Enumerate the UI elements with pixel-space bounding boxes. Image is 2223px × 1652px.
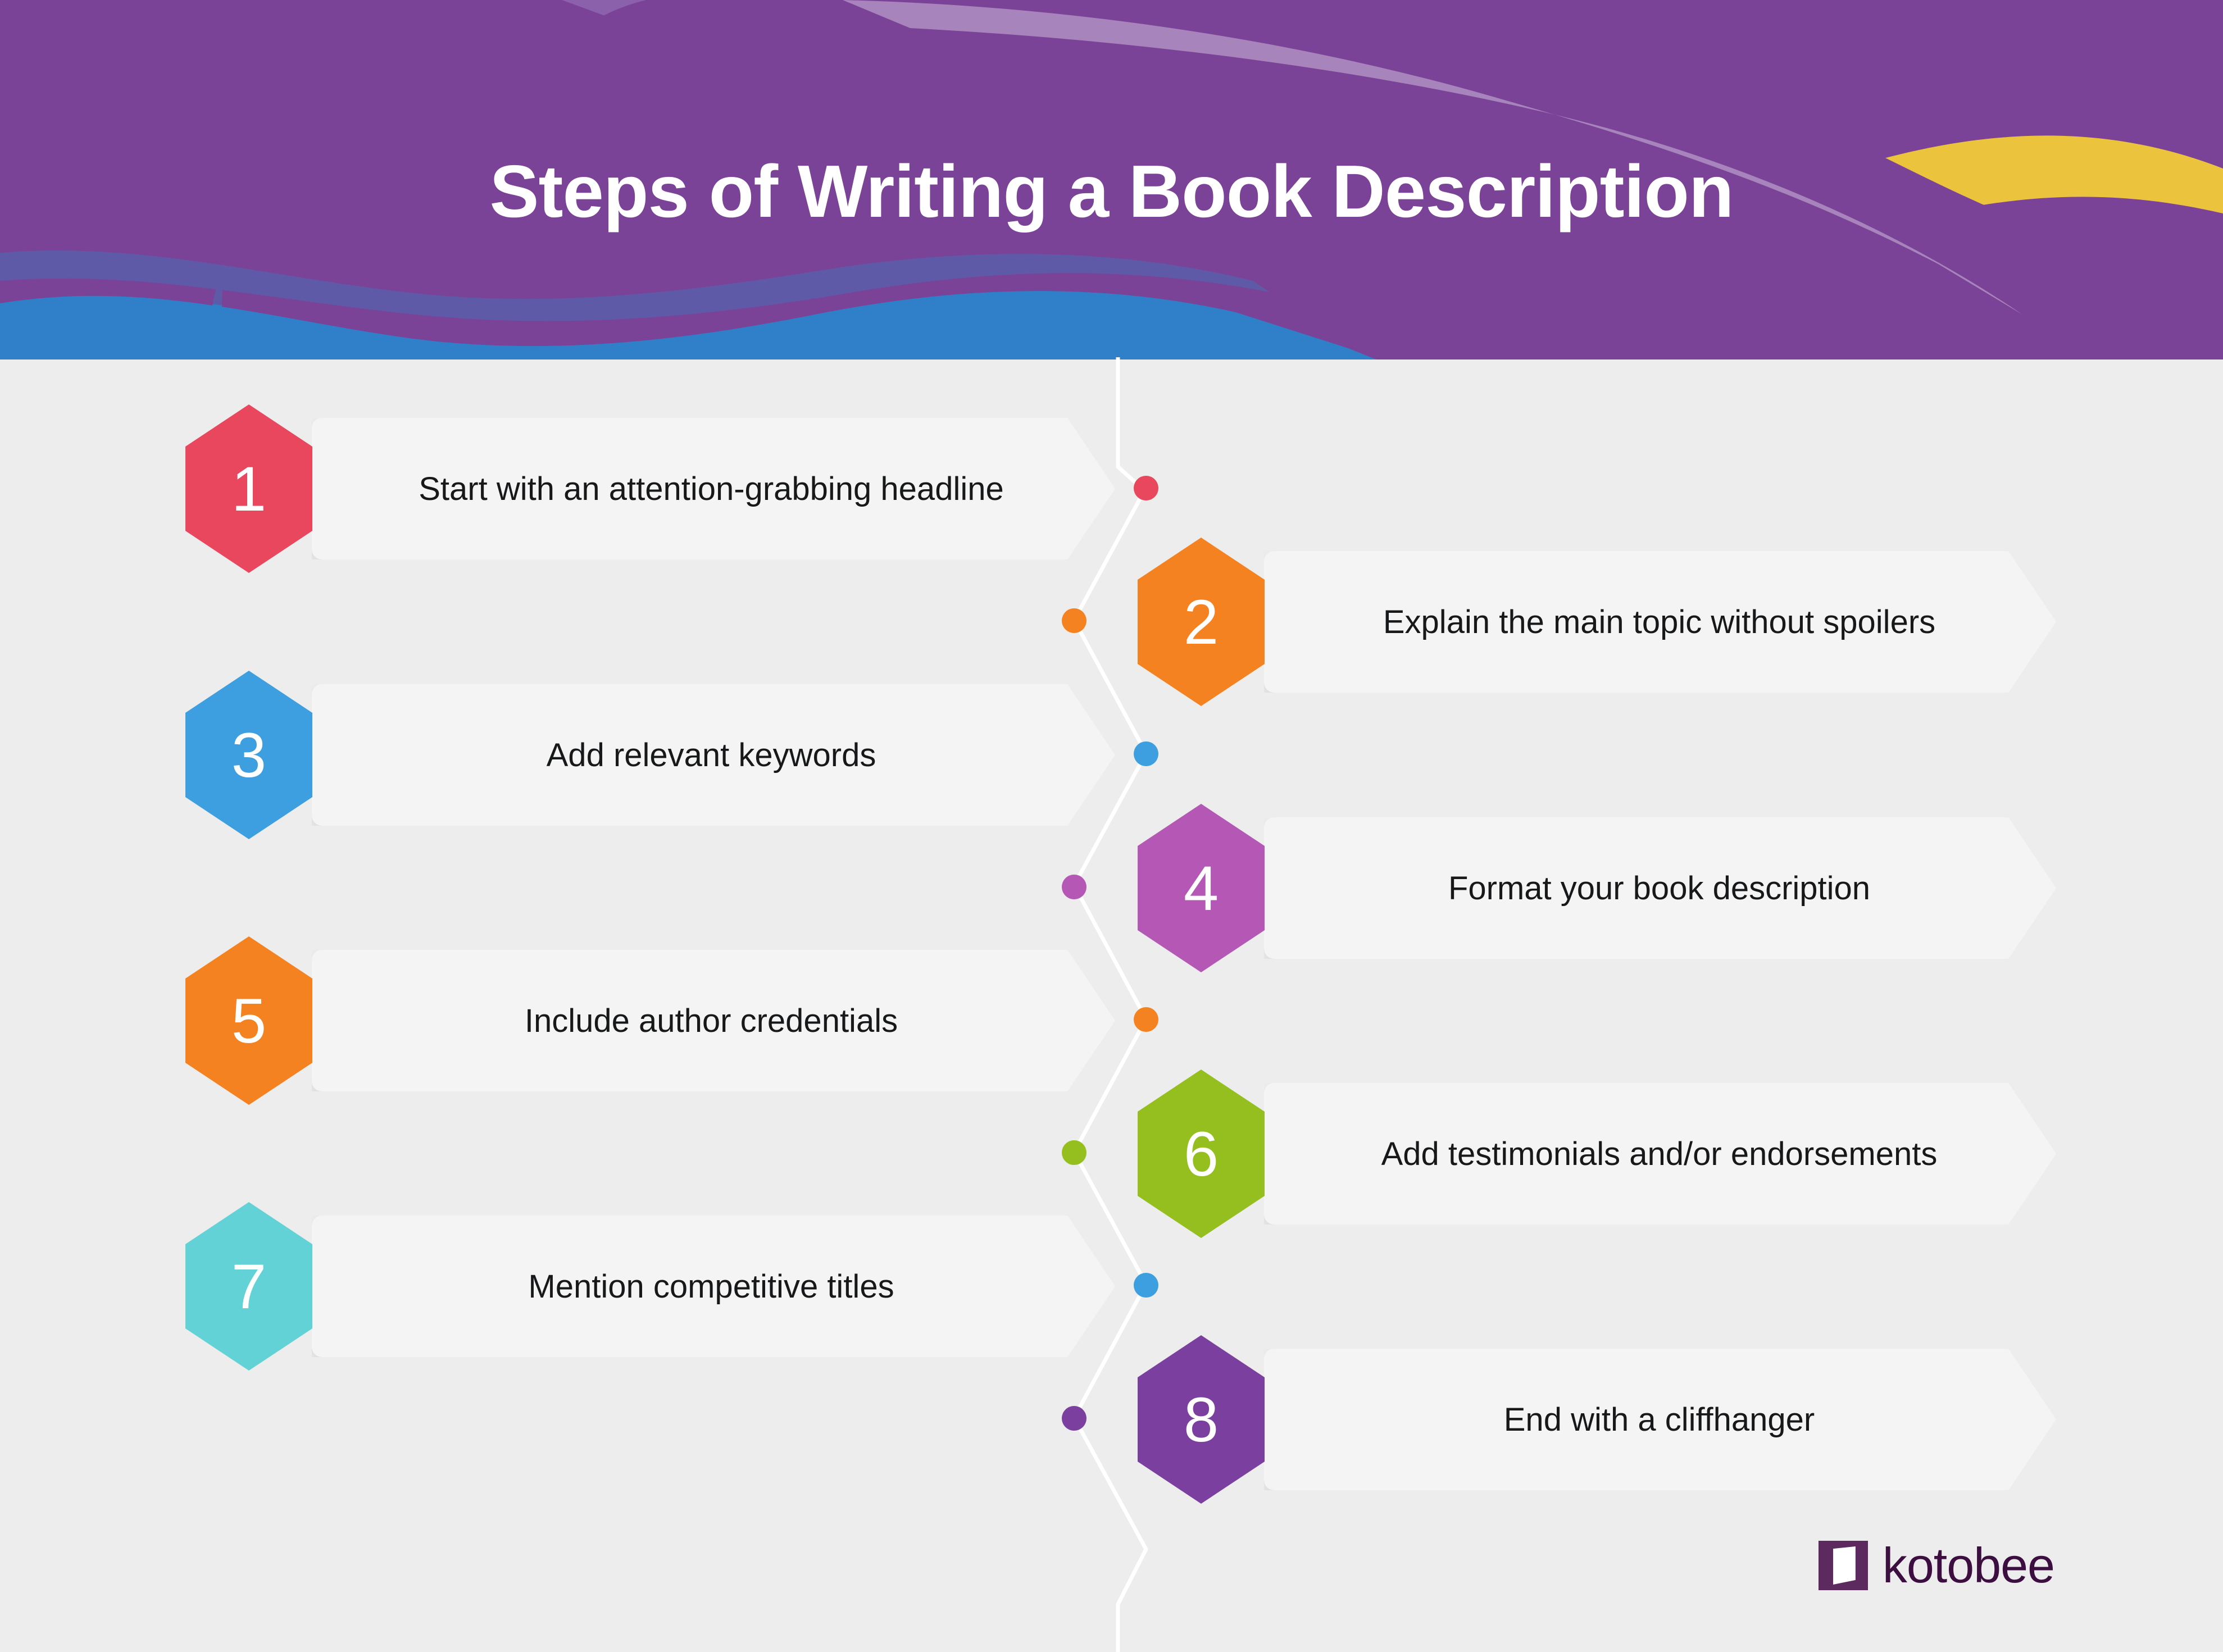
step-label-2: Explain the main topic without spoilers: [1265, 551, 2054, 693]
step-number-7: 7: [231, 1250, 266, 1323]
step-number-2: 2: [1184, 586, 1219, 658]
kotobee-logo[interactable]: kotobee: [1819, 1541, 2054, 1590]
step-number-5: 5: [231, 985, 266, 1057]
step-number-8: 8: [1184, 1384, 1219, 1456]
step-label-5: Include author credentials: [312, 950, 1110, 1091]
connector-dot-8: [1062, 1406, 1087, 1431]
connector-dot-1: [1134, 476, 1158, 500]
step-hexagon-2: 2: [1138, 538, 1265, 706]
step-number-1: 1: [231, 453, 266, 525]
step-row-6[interactable]: 6 Add testimonials and/or endorsements: [1138, 1070, 2056, 1238]
step-hexagon-6: 6: [1138, 1070, 1265, 1238]
kotobee-wordmark: kotobee: [1883, 1541, 2054, 1590]
step-hexagon-3: 3: [185, 671, 312, 839]
kotobee-book-icon: [1819, 1541, 1868, 1590]
step-hexagon-8: 8: [1138, 1335, 1265, 1504]
header-banner: Steps of Writing a Book Description: [0, 0, 2223, 359]
step-label-8: End with a cliffhanger: [1265, 1349, 2054, 1490]
connector-dot-7: [1134, 1273, 1158, 1298]
connector-dot-3: [1134, 741, 1158, 766]
step-hexagon-1: 1: [185, 404, 312, 573]
connector-dot-2: [1062, 608, 1087, 633]
step-label-6: Add testimonials and/or endorsements: [1265, 1083, 2054, 1225]
step-row-2[interactable]: 2 Explain the main topic without spoiler…: [1138, 538, 2056, 706]
step-row-1[interactable]: 1 Start with an attention-grabbing headl…: [185, 404, 1115, 573]
step-row-7[interactable]: 7 Mention competitive titles: [185, 1202, 1115, 1371]
step-row-4[interactable]: 4 Format your book description: [1138, 804, 2056, 972]
step-hexagon-4: 4: [1138, 804, 1265, 972]
step-label-1: Start with an attention-grabbing headlin…: [312, 418, 1110, 559]
step-number-3: 3: [231, 719, 266, 791]
step-hexagon-7: 7: [185, 1202, 312, 1371]
step-label-4: Format your book description: [1265, 817, 2054, 959]
step-label-7: Mention competitive titles: [312, 1216, 1110, 1357]
step-number-6: 6: [1184, 1118, 1219, 1190]
page-title: Steps of Writing a Book Description: [0, 0, 2223, 359]
step-number-4: 4: [1184, 852, 1219, 925]
step-row-8[interactable]: 8 End with a cliffhanger: [1138, 1335, 2056, 1504]
step-row-3[interactable]: 3 Add relevant keywords: [185, 671, 1115, 839]
step-row-5[interactable]: 5 Include author credentials: [185, 936, 1115, 1105]
step-hexagon-5: 5: [185, 936, 312, 1105]
infographic-canvas: Steps of Writing a Book Description 1 St…: [0, 0, 2223, 1652]
connector-dot-5: [1134, 1007, 1158, 1032]
step-label-3: Add relevant keywords: [312, 684, 1110, 826]
book-page-shape: [1833, 1546, 1856, 1585]
connector-dot-4: [1062, 875, 1087, 899]
connector-dot-6: [1062, 1140, 1087, 1165]
